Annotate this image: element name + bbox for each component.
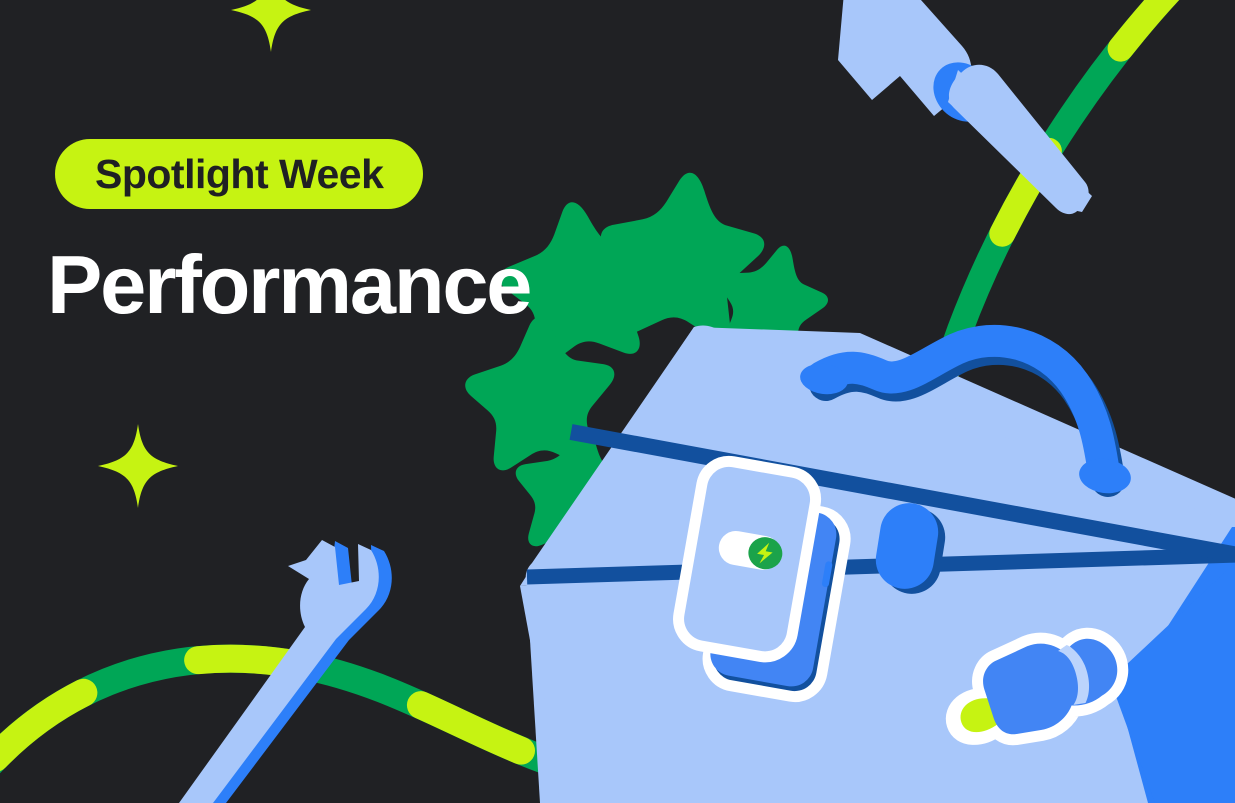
illustration <box>0 0 1235 803</box>
spotlight-week-banner: Spotlight Week Performance <box>0 0 1235 803</box>
spotlight-week-badge[interactable]: Spotlight Week <box>55 139 423 209</box>
